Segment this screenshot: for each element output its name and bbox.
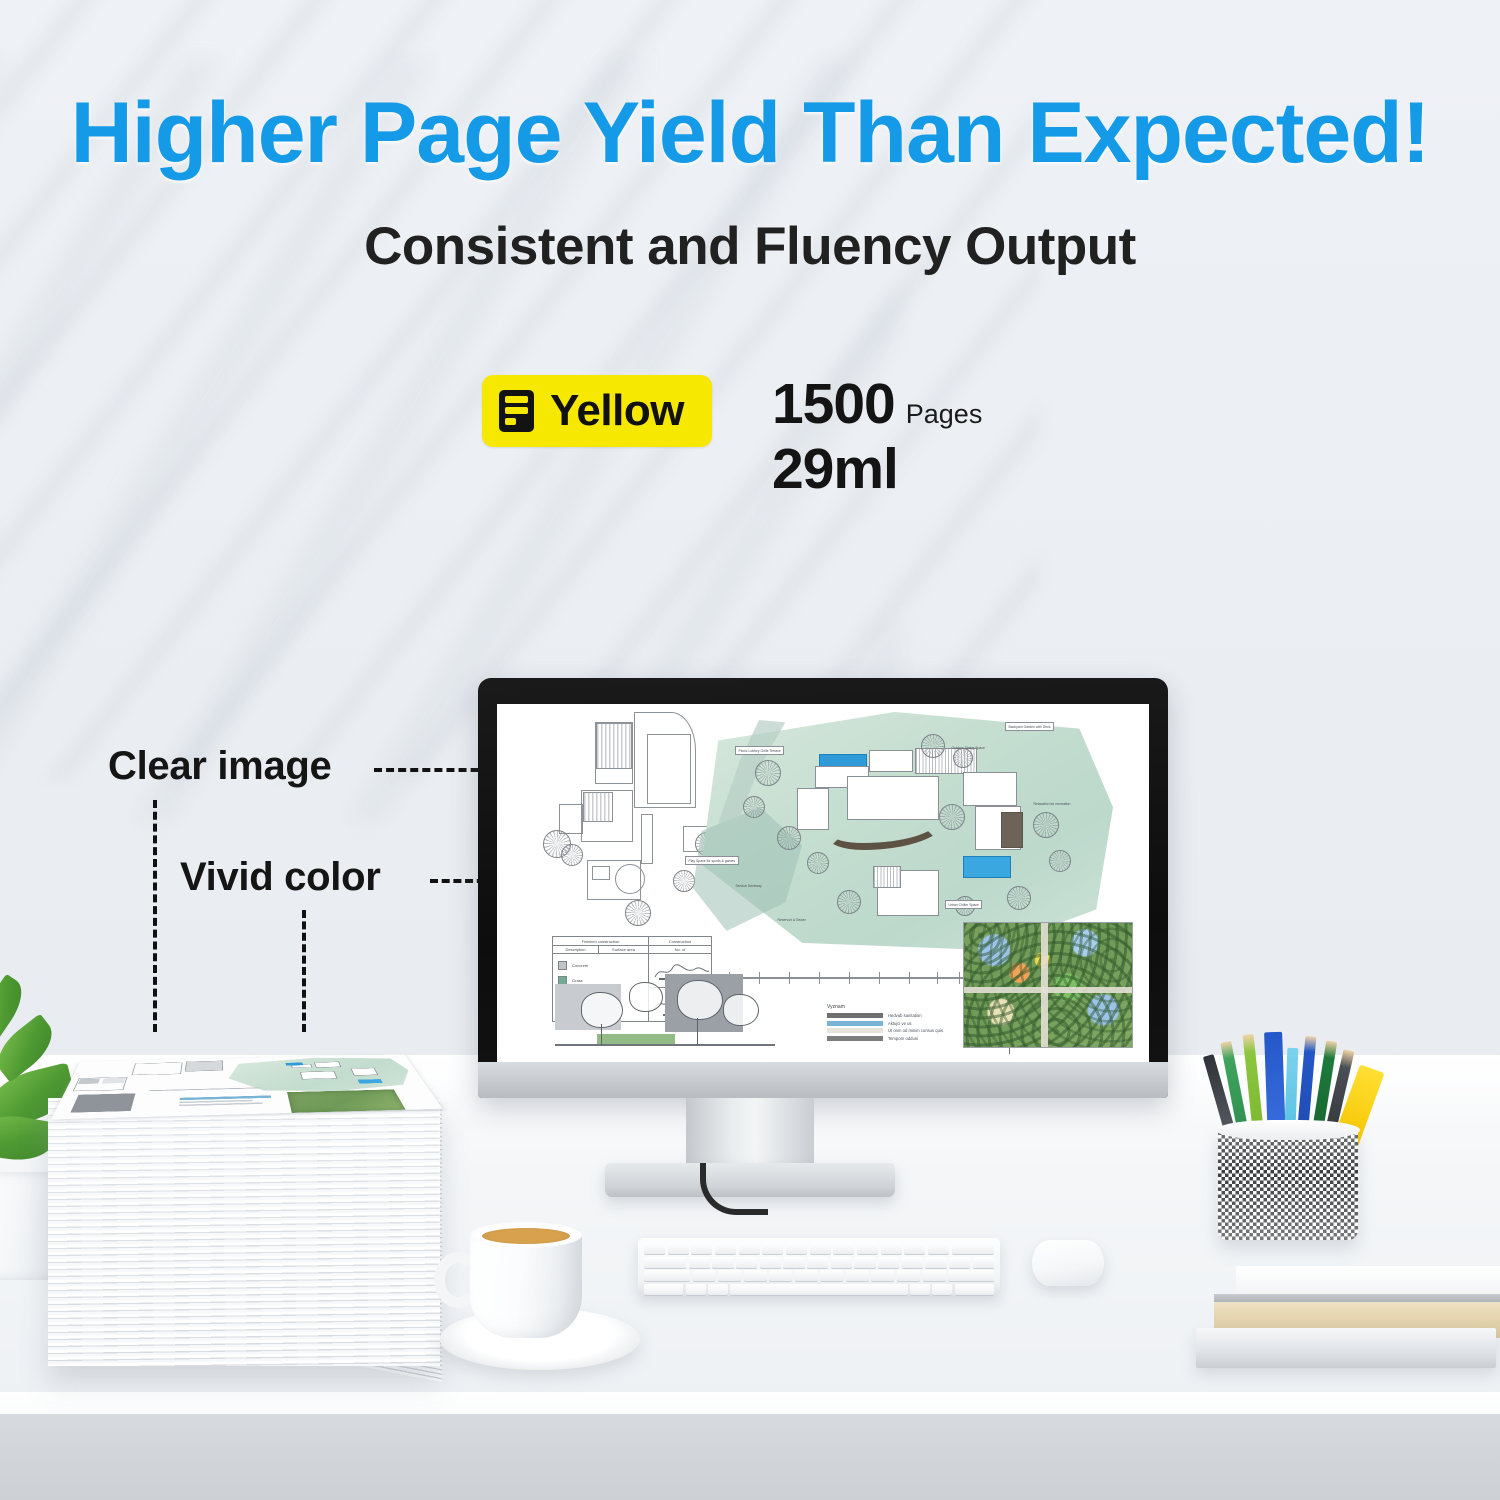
legend-color-label: Temporn odduni	[888, 1036, 918, 1041]
book	[1196, 1328, 1496, 1368]
mesh-cup	[1218, 1128, 1358, 1240]
elevation-sketches	[555, 974, 775, 1056]
map-tag: Backyard Garden with Deck	[1005, 722, 1054, 731]
printed-page-top	[51, 1054, 443, 1119]
coffee-liquid	[482, 1228, 570, 1244]
book-stack	[1196, 1232, 1500, 1402]
color-legend-row: Temporn odduni	[827, 1036, 943, 1041]
keyboard[interactable]	[638, 1238, 1000, 1296]
monitor-chin	[478, 1062, 1168, 1098]
page-yield-value: 1500	[772, 376, 895, 433]
legend-color-bar	[827, 1036, 883, 1041]
monitor-screen[interactable]: Picnic Lobbey Grille Terrace Backyard Ga…	[497, 704, 1149, 1062]
legend-subheader: Surface area	[599, 946, 649, 953]
color-legend: Vyznam Hedvab sanitation Aktujci ve us U…	[827, 1004, 943, 1043]
color-legend-row: Hedvab sanitation	[827, 1013, 943, 1018]
printed-paper-stack	[40, 986, 460, 1381]
map-tag: Picnic Lobbey Grille Terrace	[735, 746, 784, 755]
color-badge: Yellow	[482, 375, 712, 447]
page-subheadline: Consistent and Fluency Output	[0, 216, 1500, 277]
color-legend-row: Aktujci ve us	[827, 1021, 943, 1026]
site-plan-document: Picnic Lobbey Grille Terrace Backyard Ga…	[497, 704, 1149, 1062]
map-tag: Service Driveway	[733, 882, 764, 889]
monitor-neck	[686, 1098, 814, 1170]
callout-vivid-color: Vivid color	[180, 855, 380, 900]
cup-lip	[1216, 1120, 1360, 1140]
paper-stack-body	[48, 1098, 440, 1366]
material-swatch-concrete	[558, 961, 567, 970]
legend-subheader: No. of	[649, 946, 711, 953]
legend-row: Concrete	[558, 958, 648, 973]
desk-front-panel	[0, 1414, 1500, 1500]
legend-color-label: Aktujci ve us	[888, 1021, 912, 1026]
promotional-scene: Higher Page Yield Than Expected! Consist…	[0, 0, 1500, 1500]
badge-color-label: Yellow	[550, 386, 684, 436]
map-tag: Urban Chiller Space	[945, 900, 982, 909]
legend-color-label: Ut onm od minim consus quis	[888, 1028, 943, 1033]
legend-color-label: Hedvab sanitation	[888, 1013, 922, 1018]
printed-site-plan	[51, 1054, 443, 1119]
map-tag: Relaxation for recreation	[1031, 800, 1073, 807]
legend-color-bar	[827, 1021, 883, 1026]
legend-header: Finished construction	[553, 937, 649, 945]
pool-secondary	[963, 856, 1011, 878]
pencil-holder	[1218, 1060, 1362, 1240]
desktop-monitor[interactable]: Picnic Lobbey Grille Terrace Backyard Ga…	[478, 678, 1168, 1098]
legend-color-bar	[827, 1028, 883, 1033]
map-tag: Outdoor Dining Space	[949, 744, 987, 751]
color-legend-row: Ut onm od minim consus quis	[827, 1028, 943, 1033]
specs-row: Yellow 1500 Pages 29ml	[482, 375, 982, 501]
callout-clear-image: Clear image	[108, 744, 331, 789]
ink-volume-value: 29ml	[772, 439, 982, 501]
material-label: Concrete	[572, 963, 588, 968]
yield-block: 1500 Pages 29ml	[772, 375, 982, 501]
color-legend-title: Vyznam	[827, 1004, 943, 1010]
page-headline: Higher Page Yield Than Expected!	[0, 84, 1500, 183]
map-tag: Play Space for sports & games	[685, 856, 739, 865]
legend-subheader: Description	[553, 946, 599, 953]
legend-color-bar	[827, 1013, 883, 1018]
map-tag: Reservoir & Sewer	[775, 916, 808, 923]
page-yield-label: Pages	[906, 401, 983, 428]
legend-header: Construction	[649, 937, 711, 945]
aerial-masterplan-thumbnail	[963, 922, 1133, 1048]
mouse[interactable]	[1032, 1240, 1104, 1286]
ink-cartridge-icon	[499, 390, 534, 432]
